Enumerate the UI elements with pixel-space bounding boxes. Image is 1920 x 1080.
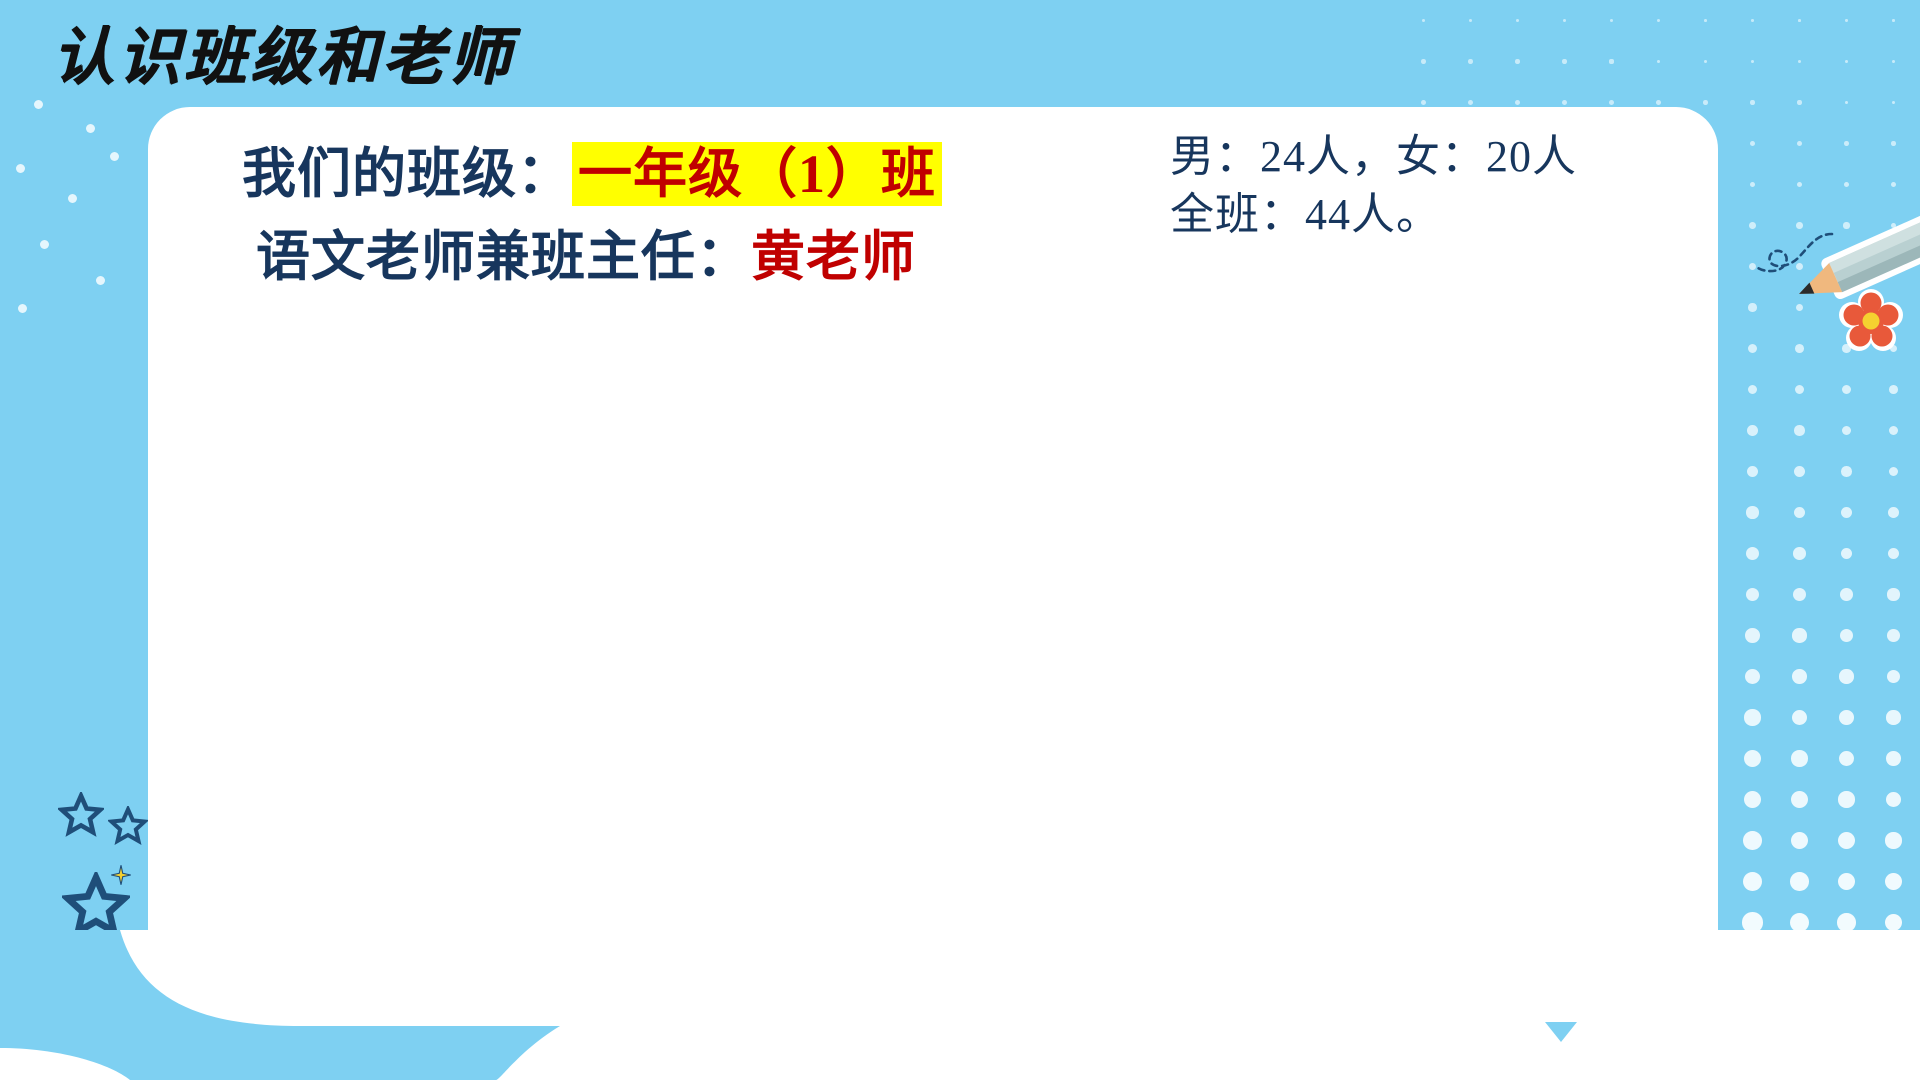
halftone-dot [1886, 710, 1900, 724]
halftone-dot [1889, 426, 1898, 435]
halftone-dot [1751, 60, 1755, 64]
halftone-dot [1790, 872, 1809, 891]
halftone-dot [1746, 547, 1759, 560]
halftone-dot [1839, 710, 1854, 725]
page-title: 认识班级和老师 [52, 6, 514, 96]
halftone-dot [1610, 19, 1613, 22]
halftone-dot [1841, 548, 1853, 560]
halftone-dot [1889, 467, 1899, 477]
halftone-dot [1609, 100, 1614, 105]
halftone-dot [1886, 792, 1902, 808]
halftone-dot [1839, 751, 1855, 767]
halftone-dot [1795, 344, 1804, 353]
halftone-dot [1842, 385, 1851, 394]
halftone-dot [1891, 141, 1895, 145]
halftone-dot [1563, 19, 1566, 22]
halftone-dot [1750, 141, 1755, 146]
halftone-dot [1845, 101, 1849, 105]
halftone-dot [1745, 669, 1761, 685]
halftone-dot [1656, 100, 1661, 105]
teacher-line: 语文老师兼班主任：黄老师 [232, 223, 1182, 292]
halftone-dot [1793, 547, 1806, 560]
halftone-dot [1845, 19, 1847, 21]
halftone-dot [1797, 141, 1802, 146]
halftone-dot [1839, 669, 1853, 683]
halftone-dot [1798, 60, 1801, 63]
halftone-dot [1748, 385, 1758, 395]
halftone-dot [1845, 60, 1848, 63]
halftone-dot [1837, 913, 1856, 932]
halftone-dot [1657, 60, 1661, 64]
halftone-dot [1609, 59, 1613, 63]
halftone-dot [1469, 19, 1472, 22]
halftone-dot [1892, 60, 1895, 63]
sparkle-icon [108, 862, 134, 888]
halftone-dot [1797, 100, 1801, 104]
star-icon [108, 806, 148, 846]
halftone-dot [1792, 628, 1806, 642]
slide-canvas: 认识班级和老师 我们的班级：一年级（1）班 语文老师兼班主任：黄老师 男：24人… [0, 0, 1920, 1080]
halftone-dot [1747, 425, 1758, 436]
halftone-dot [1744, 791, 1762, 809]
halftone-dot [1888, 507, 1899, 518]
halftone-dot [1795, 385, 1805, 395]
halftone-dot [1746, 588, 1760, 602]
halftone-dot [1892, 101, 1896, 105]
halftone-dot [1791, 832, 1809, 850]
class-line: 我们的班级：一年级（1）班 [232, 140, 1182, 209]
halftone-dot [1750, 182, 1756, 188]
halftone-dot [1421, 59, 1426, 64]
halftone-dot [1468, 100, 1474, 106]
halftone-dot [1516, 19, 1519, 22]
halftone-dot [1840, 588, 1853, 601]
halftone-dot [1748, 303, 1756, 311]
halftone-dot [1791, 791, 1808, 808]
halftone-dot [1887, 588, 1899, 600]
doodle-loop-icon [1756, 228, 1836, 288]
halftone-dot [1747, 466, 1759, 478]
halftone-dot [1838, 873, 1856, 891]
halftone-dot [1838, 791, 1854, 807]
halftone-dot [1844, 141, 1849, 146]
halftone-dot [1515, 59, 1519, 63]
halftone-dot [1887, 670, 1900, 683]
halftone-dot [1657, 19, 1660, 22]
halftone-dot [1794, 507, 1806, 519]
halftone-dot [1704, 19, 1707, 22]
stats-gender-line: 男：24人，女：20人 [1170, 128, 1710, 186]
halftone-dot [1745, 628, 1760, 643]
halftone-dot [1840, 629, 1853, 642]
halftone-dot [1743, 831, 1762, 850]
halftone-dot [1422, 19, 1426, 23]
halftone-dot [1794, 466, 1805, 477]
halftone-dot [1704, 60, 1708, 64]
halftone-dot [1888, 548, 1899, 559]
halftone-dot [1515, 100, 1520, 105]
halftone-dot [1748, 344, 1757, 353]
halftone-dot [1892, 19, 1894, 21]
triangle-marker-icon [1545, 1022, 1577, 1042]
teacher-label: 语文老师兼班主任： [256, 227, 751, 287]
halftone-dot [1841, 507, 1852, 518]
halftone-dot [1562, 100, 1567, 105]
halftone-dot [1798, 19, 1801, 22]
halftone-dot [1885, 873, 1902, 890]
halftone-dot [1791, 750, 1807, 766]
halftone-dot [1885, 832, 1901, 848]
halftone-dot [1744, 750, 1761, 767]
halftone-dot [1703, 100, 1708, 105]
halftone-dot [1562, 59, 1566, 63]
halftone-dot [1842, 426, 1852, 436]
halftone-dot [1746, 506, 1758, 518]
halftone-dot [1792, 710, 1808, 726]
halftone-dot [1468, 59, 1472, 63]
halftone-dot [1793, 588, 1806, 601]
halftone-dot [1794, 425, 1804, 435]
flower-icon [1838, 288, 1904, 354]
stats-total-line: 全班：44人。 [1170, 186, 1710, 244]
halftone-dot [1749, 222, 1756, 229]
teacher-value: 黄老师 [751, 227, 916, 287]
halftone-dot [1838, 832, 1855, 849]
halftone-dot [1885, 914, 1903, 932]
star-icon [58, 792, 104, 838]
halftone-dot [1841, 466, 1852, 477]
class-stats-block: 男：24人，女：20人 全班：44人。 [1170, 128, 1710, 244]
halftone-dot [1887, 629, 1900, 642]
halftone-dot [1421, 100, 1427, 106]
halftone-dot [1743, 872, 1763, 892]
class-value-highlight: 一年级（1）班 [572, 142, 942, 206]
class-info-block: 我们的班级：一年级（1）班 语文老师兼班主任：黄老师 [232, 140, 1182, 292]
halftone-dot [1751, 19, 1754, 22]
class-label: 我们的班级： [242, 144, 572, 204]
halftone-dot [1889, 385, 1898, 394]
cloud-band [0, 930, 1920, 1080]
halftone-dot [1750, 100, 1754, 104]
halftone-dot [1744, 709, 1760, 725]
halftone-dot [1792, 669, 1807, 684]
halftone-dot [1886, 751, 1901, 766]
